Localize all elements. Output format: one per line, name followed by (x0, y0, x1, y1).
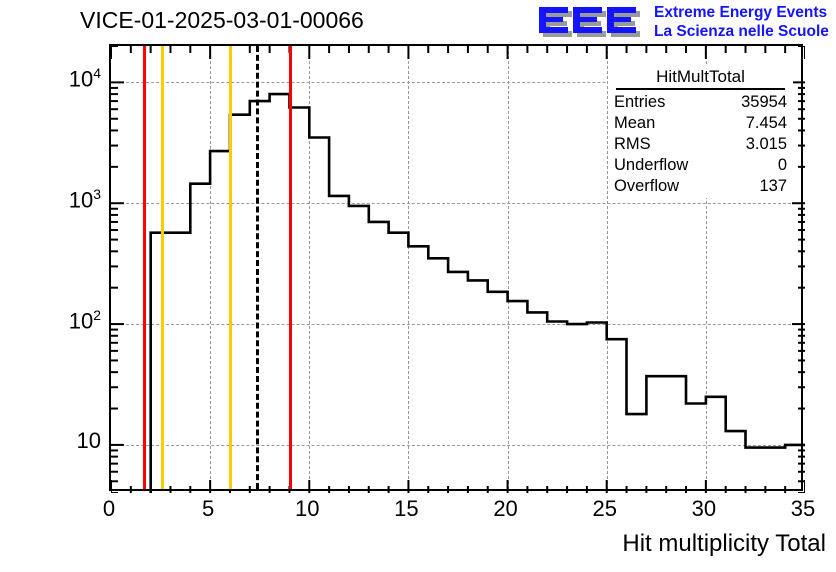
stats-header: HitMultTotal (616, 66, 785, 90)
marker-line-yellow-upper-warning (229, 46, 232, 489)
stats-row: Entries35954 (608, 92, 793, 113)
stats-row: Underflow0 (608, 155, 793, 176)
stats-row-value: 137 (759, 176, 787, 197)
stats-row-value: 3.015 (746, 134, 787, 155)
marker-line-red-upper-limit (289, 46, 292, 489)
x-tick-label: 5 (202, 496, 214, 522)
logo-line-1: Extreme Energy Events (654, 3, 829, 22)
stats-row-value: 0 (778, 155, 787, 176)
stats-box: HitMultTotal Entries35954Mean7.454RMS3.0… (608, 66, 793, 198)
x-tick-label: 25 (592, 496, 616, 522)
eee-logo: Extreme Energy Events La Scienza nelle S… (536, 2, 836, 44)
stats-row: RMS3.015 (608, 134, 793, 155)
stats-row-value: 7.454 (746, 113, 787, 134)
x-axis-title: Hit multiplicity Total (622, 530, 826, 558)
stats-row: Overflow137 (608, 176, 793, 197)
stats-row-key: Underflow (614, 155, 688, 176)
logo-line-2: La Scienza nelle Scuole (654, 22, 829, 41)
x-tick-label: 0 (103, 496, 115, 522)
stats-row-value: 35954 (741, 92, 787, 113)
x-tick-label: 35 (791, 496, 815, 522)
y-tick-label: 102 (69, 307, 101, 334)
stats-rows: Entries35954Mean7.454RMS3.015Underflow0O… (608, 92, 793, 197)
stats-row-key: Entries (614, 92, 665, 113)
marker-line-red-lower-limit (143, 46, 146, 489)
root-canvas: VICE-01-2025-03-01-00066 (0, 0, 836, 572)
x-tick-label: 20 (493, 496, 517, 522)
y-tick-label: 10 (77, 428, 101, 454)
stats-row-key: RMS (614, 134, 651, 155)
stats-row-key: Overflow (614, 176, 679, 197)
page-title: VICE-01-2025-03-01-00066 (80, 7, 364, 34)
x-tick-label: 30 (692, 496, 716, 522)
marker-line-mean-line (256, 46, 259, 489)
x-tick-label: 15 (394, 496, 418, 522)
stats-row-key: Mean (614, 113, 655, 134)
x-tick-label: 10 (295, 496, 319, 522)
stats-row: Mean7.454 (608, 113, 793, 134)
y-tick-label: 104 (69, 65, 101, 92)
y-tick-label: 103 (69, 186, 101, 213)
marker-line-yellow-lower-warning (161, 46, 164, 489)
eee-logo-mark-icon (536, 4, 644, 42)
